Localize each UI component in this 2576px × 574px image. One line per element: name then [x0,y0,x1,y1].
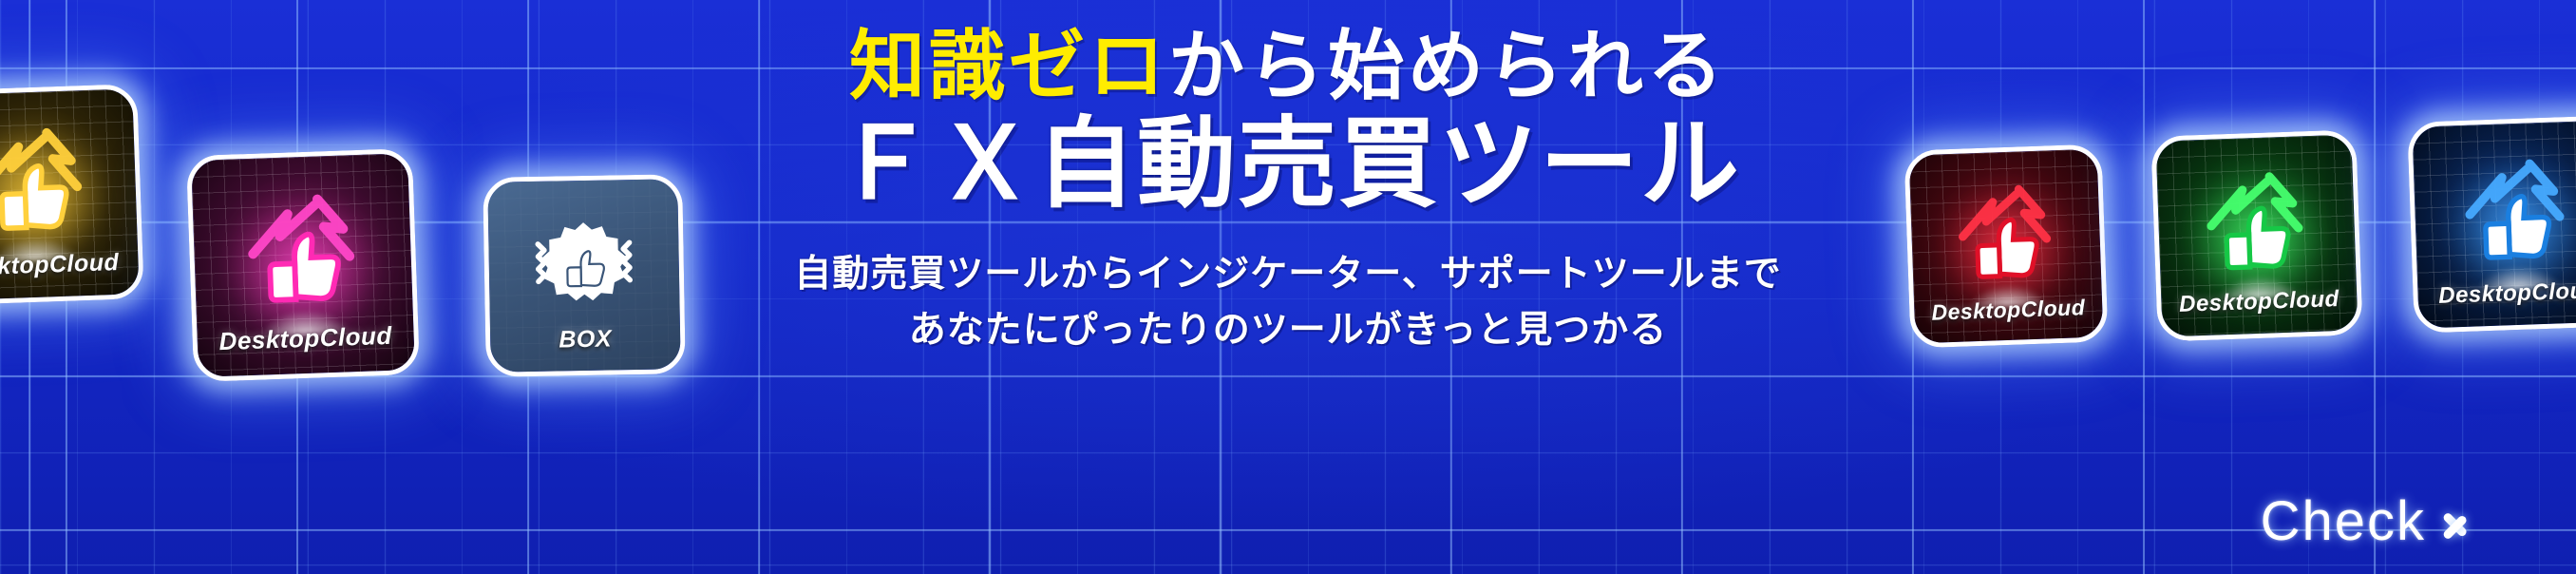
page-title: ＦＸ自動売買ツール [835,114,1741,215]
check-button-label: Check [2261,489,2426,553]
kicker-rest: から始められる [1168,24,1727,108]
sub-line-2: あなたにぴったりのツールがきっと見つかる [794,303,1782,359]
kicker-line: 知識ゼロから始められる [849,29,1727,105]
chevron-right-icon [2443,499,2472,545]
banner-copy: 知識ゼロから始められる ＦＸ自動売買ツール 自動売買ツールからインジケーター、サ… [0,0,2576,574]
kicker-highlight: 知識ゼロ [849,24,1168,108]
promo-banner: DesktopCloud DesktopC [0,0,2576,574]
sub-copy: 自動売買ツールからインジケーター、サポートツールまで あなたにぴったりのツールが… [794,247,1782,358]
check-button[interactable]: Check [2261,489,2472,553]
sub-line-1: 自動売買ツールからインジケーター、サポートツールまで [794,254,1782,295]
